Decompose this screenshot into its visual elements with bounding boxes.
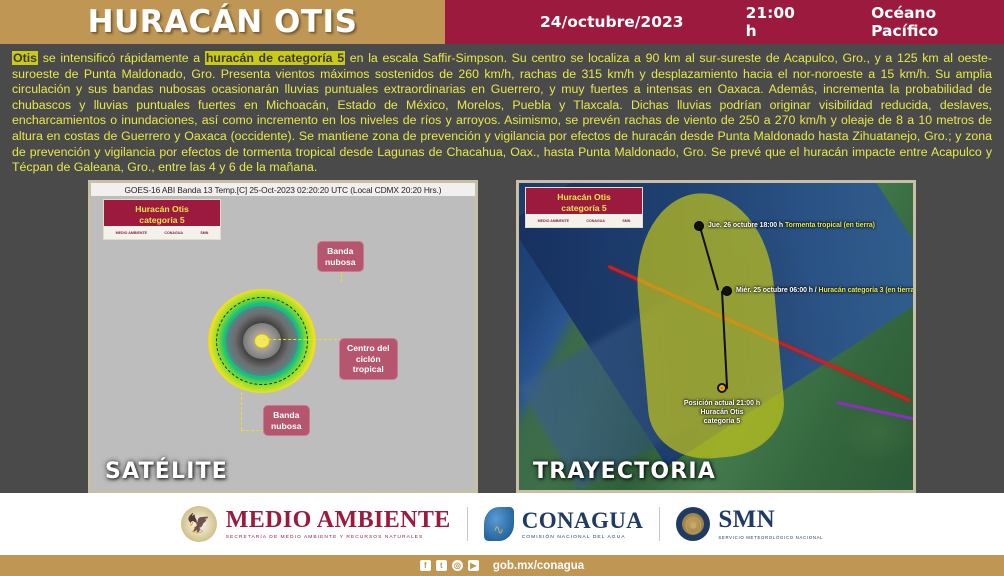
conagua-name: CONAGUA <box>522 509 644 532</box>
label-centro-line3: tropical <box>347 364 390 375</box>
page-title: HURACÁN OTIS <box>88 4 358 40</box>
forecast-status-thursday: Tormenta tropical (en tierra) <box>785 222 875 229</box>
storm-name-highlight: Otis <box>12 51 38 65</box>
logo-conagua: ∿ CONAGUA COMISIÓN NACIONAL DEL AGUA <box>484 507 644 541</box>
traj-badge-storm-name: Huracán Otis <box>528 192 640 203</box>
paragraph-segment-4: en la escala Saffir-Simpson. Su centro s… <box>12 51 992 174</box>
forecast-status-wednesday: Huracán categoría 3 (en tierra) <box>819 287 916 294</box>
medio-ambiente-subtitle: SECRETARÍA DE MEDIO AMBIENTE Y RECURSOS … <box>226 535 451 540</box>
badge-logo-smn: SMN <box>200 231 208 235</box>
label-banda-nubosa-bottom: Banda nubosa <box>263 405 310 436</box>
traj-badge-storm-category: categoría 5 <box>528 203 640 214</box>
mexico-eagle-icon: 🦅 <box>181 506 217 542</box>
smn-text: SMN SERVICIO METEOROLÓGICO NACIONAL <box>718 507 823 541</box>
conagua-subtitle: COMISIÓN NACIONAL DEL AGUA <box>522 535 644 540</box>
label-banda-bottom-line1: Banda <box>271 410 302 421</box>
footer-social-bar: f t ◎ ▶ gob.mx/conagua <box>0 555 1004 576</box>
forecast-label-wednesday: Miér. 25 octubre 06:00 h / Huracán categ… <box>736 287 916 294</box>
label-banda-nubosa-top: Banda nubosa <box>317 241 364 272</box>
traj-badge-logo-conagua: CONAGUA <box>586 219 605 223</box>
storm-eye-marker <box>254 334 270 349</box>
badge-text-block: Huracán Otis categoría 5 <box>104 200 220 226</box>
label-banda-top-line2: nubosa <box>325 257 356 268</box>
logo-divider-2 <box>659 507 660 541</box>
medio-ambiente-text: MEDIO AMBIENTE SECRETARÍA DE MEDIO AMBIE… <box>226 508 451 540</box>
header-time: 21:00 h <box>746 4 810 40</box>
logo-divider-1 <box>467 507 468 541</box>
gobmx-url[interactable]: gob.mx/conagua <box>493 560 584 572</box>
header-bar: HURACÁN OTIS 24/octubre/2023 21:00 h Océ… <box>0 0 1004 44</box>
smn-name: SMN <box>718 507 823 532</box>
forecast-label-thursday: Jue. 26 octubre 18:00 h Tormenta tropica… <box>708 222 875 229</box>
current-position-marker <box>717 383 727 393</box>
satellite-panel-caption: SATÉLITE <box>105 459 228 484</box>
smn-spiral-icon: ⦿ <box>676 507 710 541</box>
satellite-storm-badge: Huracán Otis categoría 5 MEDIO AMBIENTE … <box>103 199 221 240</box>
current-position-line1: Posición actual 21:00 h <box>667 399 777 408</box>
header-title-area: HURACÁN OTIS <box>0 0 445 44</box>
traj-badge-logo-medio-ambiente: MEDIO AMBIENTE <box>538 219 569 223</box>
label-banda-top-line1: Banda <box>325 246 356 257</box>
label-centro-line1: Centro del <box>347 343 390 354</box>
traj-badge-logo-row: MEDIO AMBIENTE CONAGUA SMN <box>526 214 642 227</box>
forecast-time-thursday: Jue. 26 octubre 18:00 h <box>708 222 783 229</box>
trajectory-panel-caption: TRAYECTORIA <box>533 459 716 484</box>
label-banda-bottom-line2: nubosa <box>271 421 302 432</box>
social-icon-group: f t ◎ ▶ gob.mx/conagua <box>420 560 584 572</box>
trajectory-panel: Jue. 26 octubre 18:00 h Tormenta tropica… <box>516 180 916 493</box>
conagua-text: CONAGUA COMISIÓN NACIONAL DEL AGUA <box>522 509 644 540</box>
trajectory-storm-badge: Huracán Otis categoría 5 MEDIO AMBIENTE … <box>525 187 643 228</box>
hurricane-eye-graphic <box>207 286 317 396</box>
badge-logo-row: MEDIO AMBIENTE CONAGUA SMN <box>104 226 220 239</box>
medio-ambiente-name: MEDIO AMBIENTE <box>226 508 451 532</box>
logo-medio-ambiente: 🦅 MEDIO AMBIENTE SECRETARÍA DE MEDIO AMB… <box>181 506 451 542</box>
badge-storm-name: Huracán Otis <box>106 204 218 215</box>
forecast-point-thursday <box>694 221 704 231</box>
conagua-water-drop-icon: ∿ <box>484 507 514 541</box>
badge-logo-conagua: CONAGUA <box>164 231 183 235</box>
smn-subtitle: SERVICIO METEOROLÓGICO NACIONAL <box>718 535 823 541</box>
footer-logo-bar: 🦅 MEDIO AMBIENTE SECRETARÍA DE MEDIO AMB… <box>0 493 1004 555</box>
category-highlight: huracán de categoría 5 <box>205 51 345 65</box>
label-centro-line2: ciclón <box>347 354 390 365</box>
twitter-icon[interactable]: t <box>436 560 447 571</box>
label-centro-ciclon: Centro del ciclón tropical <box>339 338 398 380</box>
current-position-line2: Huracán Otis <box>667 408 777 417</box>
youtube-icon[interactable]: ▶ <box>468 560 479 571</box>
forecast-point-wednesday <box>722 286 732 296</box>
header-meta-area: 24/octubre/2023 21:00 h Océano Pacífico <box>445 0 1004 44</box>
satellite-imagery <box>91 196 475 490</box>
current-position-line3: categoría 5 <box>667 417 777 426</box>
forecast-paragraph: Otis se intensificó rápidamente a huracá… <box>0 44 1004 180</box>
infographic-page: HURACÁN OTIS 24/octubre/2023 21:00 h Océ… <box>0 0 1004 576</box>
trajectory-map-imagery <box>519 183 913 490</box>
badge-storm-category: categoría 5 <box>106 215 218 226</box>
instagram-icon[interactable]: ◎ <box>452 560 463 571</box>
header-date: 24/octubre/2023 <box>540 13 684 31</box>
current-position-label: Posición actual 21:00 h Huracán Otis cat… <box>667 399 777 426</box>
facebook-icon[interactable]: f <box>420 560 431 571</box>
satellite-info-strip: GOES-16 ABI Banda 13 Temp.[C] 25-Oct-202… <box>91 183 475 196</box>
header-region: Océano Pacífico <box>871 4 1004 40</box>
leader-line-banda-bottom <box>241 382 242 430</box>
traj-badge-logo-smn: SMN <box>622 219 630 223</box>
forecast-time-wednesday: Miér. 25 octubre 06:00 h / <box>736 287 817 294</box>
badge-logo-medio-ambiente: MEDIO AMBIENTE <box>116 231 147 235</box>
logo-smn: ⦿ SMN SERVICIO METEOROLÓGICO NACIONAL <box>676 507 823 541</box>
satellite-info-text: GOES-16 ABI Banda 13 Temp.[C] 25-Oct-202… <box>125 185 442 195</box>
panels-row: GOES-16 ABI Banda 13 Temp.[C] 25-Oct-202… <box>0 180 1004 493</box>
satellite-panel: GOES-16 ABI Banda 13 Temp.[C] 25-Oct-202… <box>88 180 478 493</box>
traj-badge-text-block: Huracán Otis categoría 5 <box>526 188 642 214</box>
paragraph-segment-2: se intensificó rápidamente a <box>38 51 205 65</box>
